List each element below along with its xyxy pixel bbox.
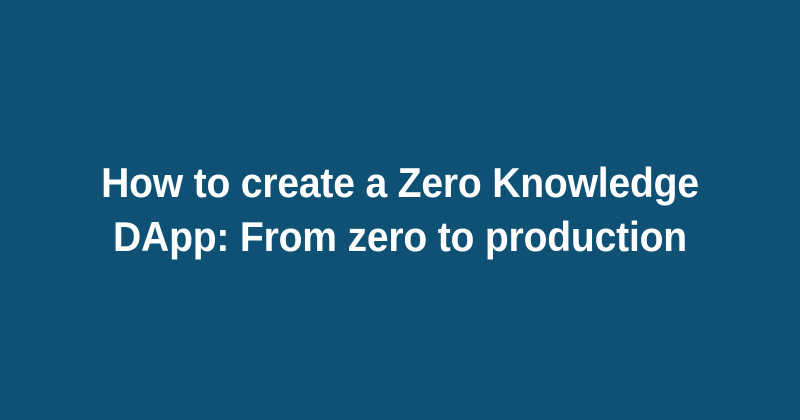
banner-canvas: How to create a Zero Knowledge DApp: Fro… [0, 0, 800, 420]
headline-line-1: How to create a Zero Knowledge [65, 156, 735, 210]
headline-line-2: DApp: From zero to production [65, 210, 735, 264]
page-title: How to create a Zero Knowledge DApp: Fro… [28, 156, 772, 264]
